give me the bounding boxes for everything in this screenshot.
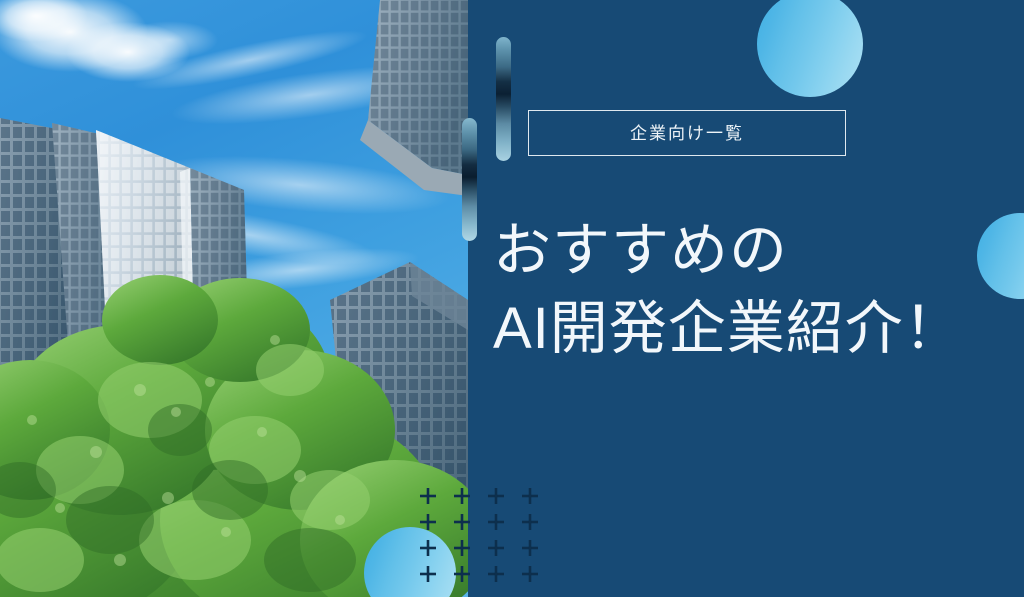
- page-title-line-1: おすすめの: [493, 212, 1013, 290]
- plus-grid-decoration: [418, 487, 548, 597]
- page-title-line-2: AI開発企業紹介！: [493, 290, 1013, 368]
- category-label-text: 企業向け一覧: [630, 125, 744, 142]
- page-title: おすすめの AI開発企業紹介！: [493, 212, 1013, 368]
- pill-bar-decoration-right: [496, 37, 511, 161]
- city-skyline-illustration: [0, 0, 468, 597]
- category-label-box: 企業向け一覧: [528, 110, 846, 156]
- hero-photo: [0, 0, 468, 597]
- hero-banner: 企業向け一覧 おすすめの AI開発企業紹介！: [0, 0, 1024, 597]
- pill-bar-decoration-left: [462, 118, 477, 241]
